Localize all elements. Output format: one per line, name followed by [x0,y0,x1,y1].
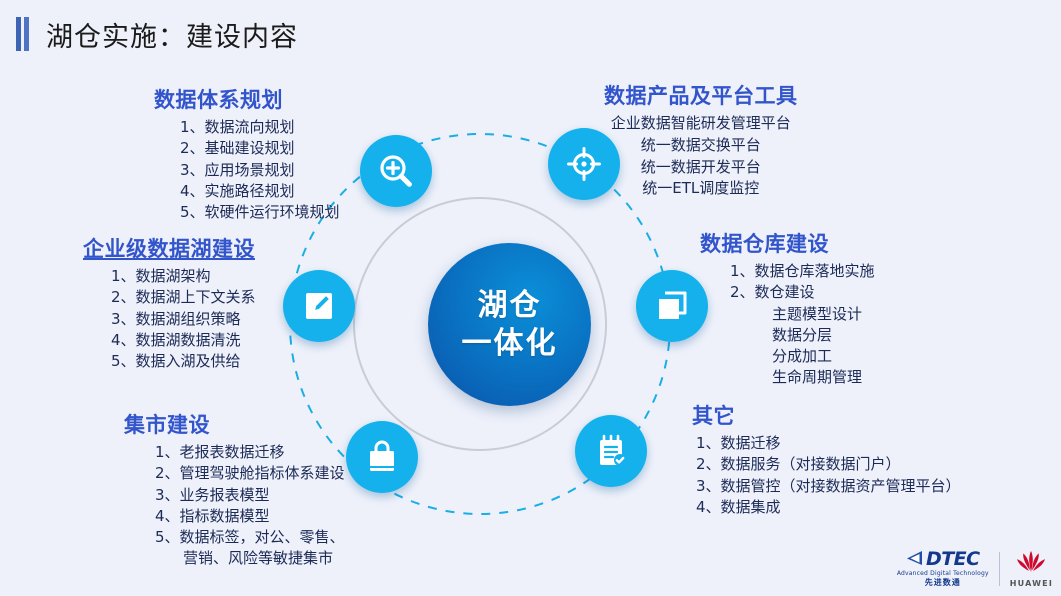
block-heading: 数据体系规划 [154,84,340,114]
block-data-warehouse: 数据仓库建设 1、数据仓库落地实施 2、数仓建设 主题模型设计 数据分层 分成加… [700,228,875,389]
list-item: 3、业务报表模型 [155,485,345,506]
edit-pencil-icon [301,288,337,324]
list-item: 2、基础建设规划 [180,138,340,159]
hub-and-spoke-diagram: 湖仓 一体化 [0,0,1061,596]
copy-layers-icon [654,288,690,324]
target-crosshair-icon [565,145,603,183]
block-heading: 数据仓库建设 [700,228,875,258]
node-data-warehouse[interactable] [636,270,708,342]
hub-line-1: 湖仓 [478,287,542,325]
list-item: 1、数据迁移 [696,433,961,454]
list-item: 3、应用场景规划 [180,160,340,181]
list-item: 统一数据交换平台 [604,135,798,157]
huawei-wordmark: HUAWEI [1010,580,1053,588]
block-heading: 集市建设 [124,409,345,439]
dtec-logo: DTEC Advanced Digital Technology 先进数通 [897,550,989,587]
list-item: 4、数据湖数据清洗 [111,330,256,351]
footer-logos: DTEC Advanced Digital Technology 先进数通 HU… [897,549,1053,588]
list-item: 1、数据流向规划 [180,117,340,138]
huawei-flower-icon [1014,549,1048,578]
list-item: 2、管理驾驶舱指标体系建设 [155,463,345,484]
magnifier-zoom-in-icon [377,152,415,190]
block-others: 其它 1、数据迁移 2、数据服务（对接数据门户） 3、数据管控（对接数据资产管理… [692,400,961,518]
block-item-list: 1、老报表数据迁移 2、管理驾驶舱指标体系建设 3、业务报表模型 4、指标数据模… [120,442,345,570]
dtec-wordmark: DTEC [926,550,980,569]
list-item: 2、数据服务（对接数据门户） [696,454,961,475]
huawei-logo: HUAWEI [1010,549,1053,588]
block-item-list: 1、数据迁移 2、数据服务（对接数据门户） 3、数据管控（对接数据资产管理平台）… [692,433,961,518]
list-subitem: 数据分层 [730,325,875,346]
list-item: 5、软硬件运行环境规划 [180,202,340,223]
list-item: 5、数据标签，对公、零售、 [155,527,345,548]
list-item: 5、数据入湖及供给 [111,351,256,372]
center-hub: 湖仓 一体化 [428,243,591,406]
node-others[interactable] [575,415,647,487]
block-item-list: 1、数据仓库落地实施 2、数仓建设 主题模型设计 数据分层 分成加工 生命周期管… [700,261,875,389]
list-subitem: 主题模型设计 [730,304,875,325]
block-item-list: 1、数据湖架构 2、数据湖上下文关系 3、数据湖组织策略 4、数据湖数据清洗 5… [83,266,256,372]
list-item: 2、数仓建设 [730,282,875,303]
list-item-continued: 营销、风险等敏捷集市 [155,548,345,569]
list-item: 4、实施路径规划 [180,181,340,202]
list-subitem: 分成加工 [730,346,875,367]
dtec-tagline: Advanced Digital Technology [897,571,989,577]
list-item: 统一ETL调度监控 [604,178,798,200]
block-heading: 企业级数据湖建设 [83,233,256,263]
list-subitem: 生命周期管理 [730,367,875,388]
block-data-product-platform: 数据产品及平台工具 企业数据智能研发管理平台 统一数据交换平台 统一数据开发平台… [604,80,798,200]
block-heading: 其它 [692,400,961,430]
node-enterprise-data-lake[interactable] [283,270,355,342]
logo-divider [999,552,1000,586]
list-item: 1、数据湖架构 [111,266,256,287]
list-item: 1、老报表数据迁移 [155,442,345,463]
list-item: 企业数据智能研发管理平台 [604,113,798,135]
hub-line-2: 一体化 [462,325,558,363]
node-data-system-planning[interactable] [360,135,432,207]
list-item: 3、数据管控（对接数据资产管理平台） [696,476,961,497]
list-item: 1、数据仓库落地实施 [730,261,875,282]
list-item: 统一数据开发平台 [604,157,798,179]
block-enterprise-data-lake: 企业级数据湖建设 1、数据湖架构 2、数据湖上下文关系 3、数据湖组织策略 4、… [83,233,256,372]
block-mart-construction: 集市建设 1、老报表数据迁移 2、管理驾驶舱指标体系建设 3、业务报表模型 4、… [120,409,345,570]
node-mart-construction[interactable] [346,421,418,493]
block-item-list: 1、数据流向规划 2、基础建设规划 3、应用场景规划 4、实施路径规划 5、软硬… [150,117,340,223]
block-item-list: 企业数据智能研发管理平台 统一数据交换平台 统一数据开发平台 统一ETL调度监控 [604,113,798,200]
list-item: 4、数据集成 [696,497,961,518]
block-heading: 数据产品及平台工具 [604,80,798,110]
list-item: 2、数据湖上下文关系 [111,287,256,308]
list-item: 4、指标数据模型 [155,506,345,527]
notepad-check-icon [594,433,628,469]
dtec-chinese-name: 先进数通 [925,579,961,587]
dtec-arrow-icon [906,550,924,569]
block-data-system-planning: 数据体系规划 1、数据流向规划 2、基础建设规划 3、应用场景规划 4、实施路径… [150,84,340,223]
list-item: 3、数据湖组织策略 [111,309,256,330]
shopping-bag-icon [365,439,399,475]
